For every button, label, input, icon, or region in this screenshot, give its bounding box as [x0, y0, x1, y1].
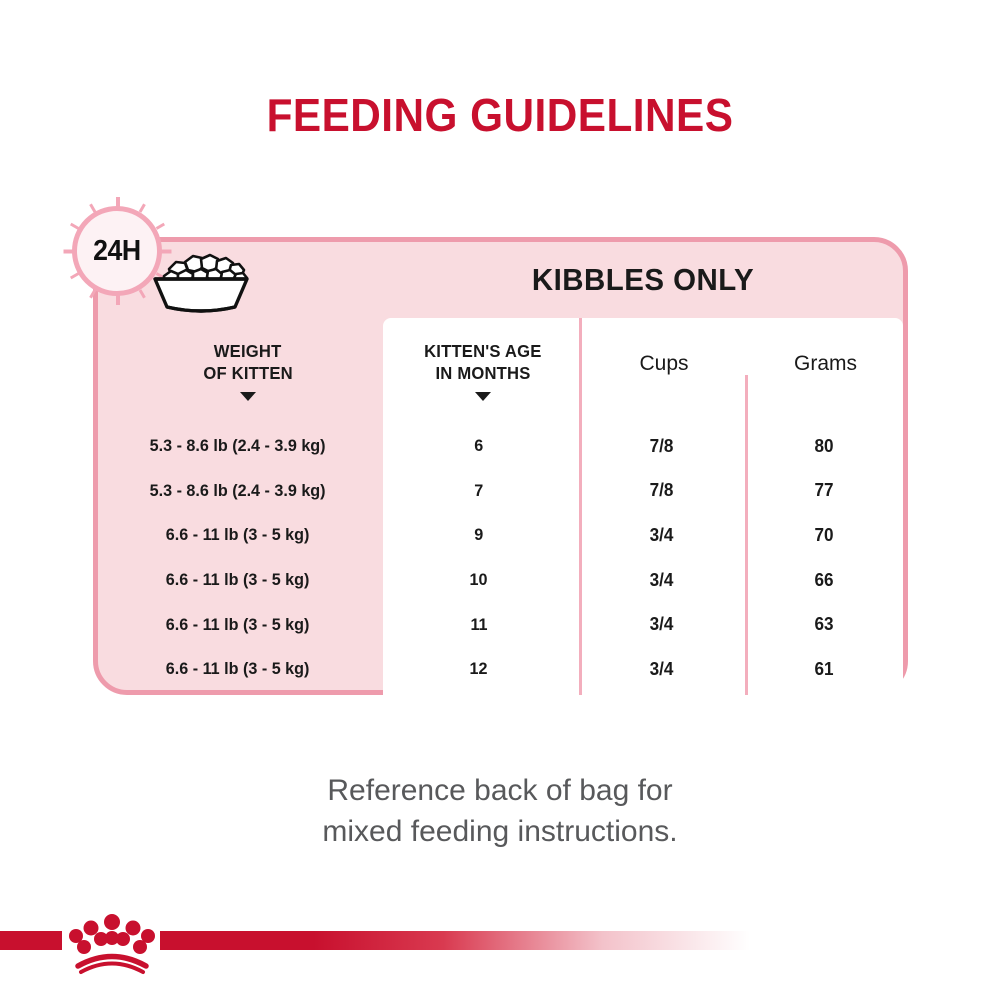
cell-age: 11: [470, 615, 487, 635]
table-row: 6.6 - 11 lb (3 - 5 kg) 11 3/4 63: [98, 602, 903, 647]
weight-header-line2: OF KITTEN: [203, 362, 292, 384]
cell-grams: 80: [814, 436, 833, 457]
feeding-frequency-badge: 24H: [63, 197, 273, 315]
cell-weight: 6.6 - 11 lb (3 - 5 kg): [166, 615, 310, 635]
table-row: 6.6 - 11 lb (3 - 5 kg) 12 3/4 61: [98, 647, 903, 692]
kibbles-only-banner: KIBBLES ONLY: [383, 242, 903, 318]
table-row: 5.3 - 8.6 lb (2.4 - 3.9 kg) 7 7/8 77: [98, 469, 903, 514]
table-row: 6.6 - 11 lb (3 - 5 kg) 9 3/4 70: [98, 513, 903, 558]
cell-age: 7: [474, 481, 483, 501]
chevron-down-icon: [240, 392, 256, 401]
royal-canin-crown-logo: [58, 905, 166, 977]
cell-grams: 61: [814, 659, 833, 680]
footer-note: Reference back of bag for mixed feeding …: [0, 770, 1000, 852]
cell-cups: 3/4: [650, 525, 674, 546]
weight-header-line1: WEIGHT: [214, 340, 282, 362]
cell-weight: 6.6 - 11 lb (3 - 5 kg): [166, 570, 310, 590]
table-row: 5.3 - 8.6 lb (2.4 - 3.9 kg) 6 7/8 80: [98, 424, 903, 469]
cell-grams: 77: [814, 480, 833, 501]
cell-age: 12: [470, 659, 488, 679]
footer-bar-left: [0, 931, 62, 950]
page-title: FEEDING GUIDELINES: [40, 88, 960, 142]
table-row: 6.6 - 11 lb (3 - 5 kg) 10 3/4 66: [98, 558, 903, 603]
cell-weight: 5.3 - 8.6 lb (2.4 - 3.9 kg): [150, 436, 326, 456]
cell-cups: 7/8: [650, 480, 674, 501]
footer-note-line2: mixed feeding instructions.: [0, 811, 1000, 852]
cell-cups: 7/8: [650, 436, 674, 457]
cell-weight: 5.3 - 8.6 lb (2.4 - 3.9 kg): [150, 481, 326, 501]
column-header-cups: Cups: [583, 352, 745, 376]
column-header-grams: Grams: [748, 352, 903, 376]
column-header-weight: WEIGHT OF KITTEN: [118, 340, 378, 401]
cell-grams: 66: [814, 570, 833, 591]
cell-cups: 3/4: [650, 570, 674, 591]
cell-cups: 3/4: [650, 614, 674, 635]
footer-bar-right: [160, 931, 750, 950]
cell-cups: 3/4: [650, 659, 674, 680]
age-header-line2: IN MONTHS: [436, 362, 531, 384]
table-body: 5.3 - 8.6 lb (2.4 - 3.9 kg) 6 7/8 80 5.3…: [98, 424, 903, 692]
cell-grams: 63: [814, 614, 833, 635]
kibbles-only-label: KIBBLES ONLY: [532, 262, 754, 298]
cell-age: 10: [470, 570, 488, 590]
footer-note-line1: Reference back of bag for: [0, 770, 1000, 811]
cell-age: 9: [474, 525, 483, 545]
cell-grams: 70: [814, 525, 833, 546]
chevron-down-icon: [475, 392, 491, 401]
badge-label: 24H: [63, 197, 171, 305]
age-header-line1: KITTEN'S AGE: [424, 340, 541, 362]
cell-weight: 6.6 - 11 lb (3 - 5 kg): [166, 659, 310, 679]
cell-weight: 6.6 - 11 lb (3 - 5 kg): [166, 525, 310, 545]
cell-age: 6: [474, 436, 483, 456]
feeding-guidelines-page: FEEDING GUIDELINES KIBBLES ONLY WEIGHT O…: [0, 0, 1000, 1000]
column-header-age: KITTEN'S AGE IN MONTHS: [388, 340, 578, 401]
